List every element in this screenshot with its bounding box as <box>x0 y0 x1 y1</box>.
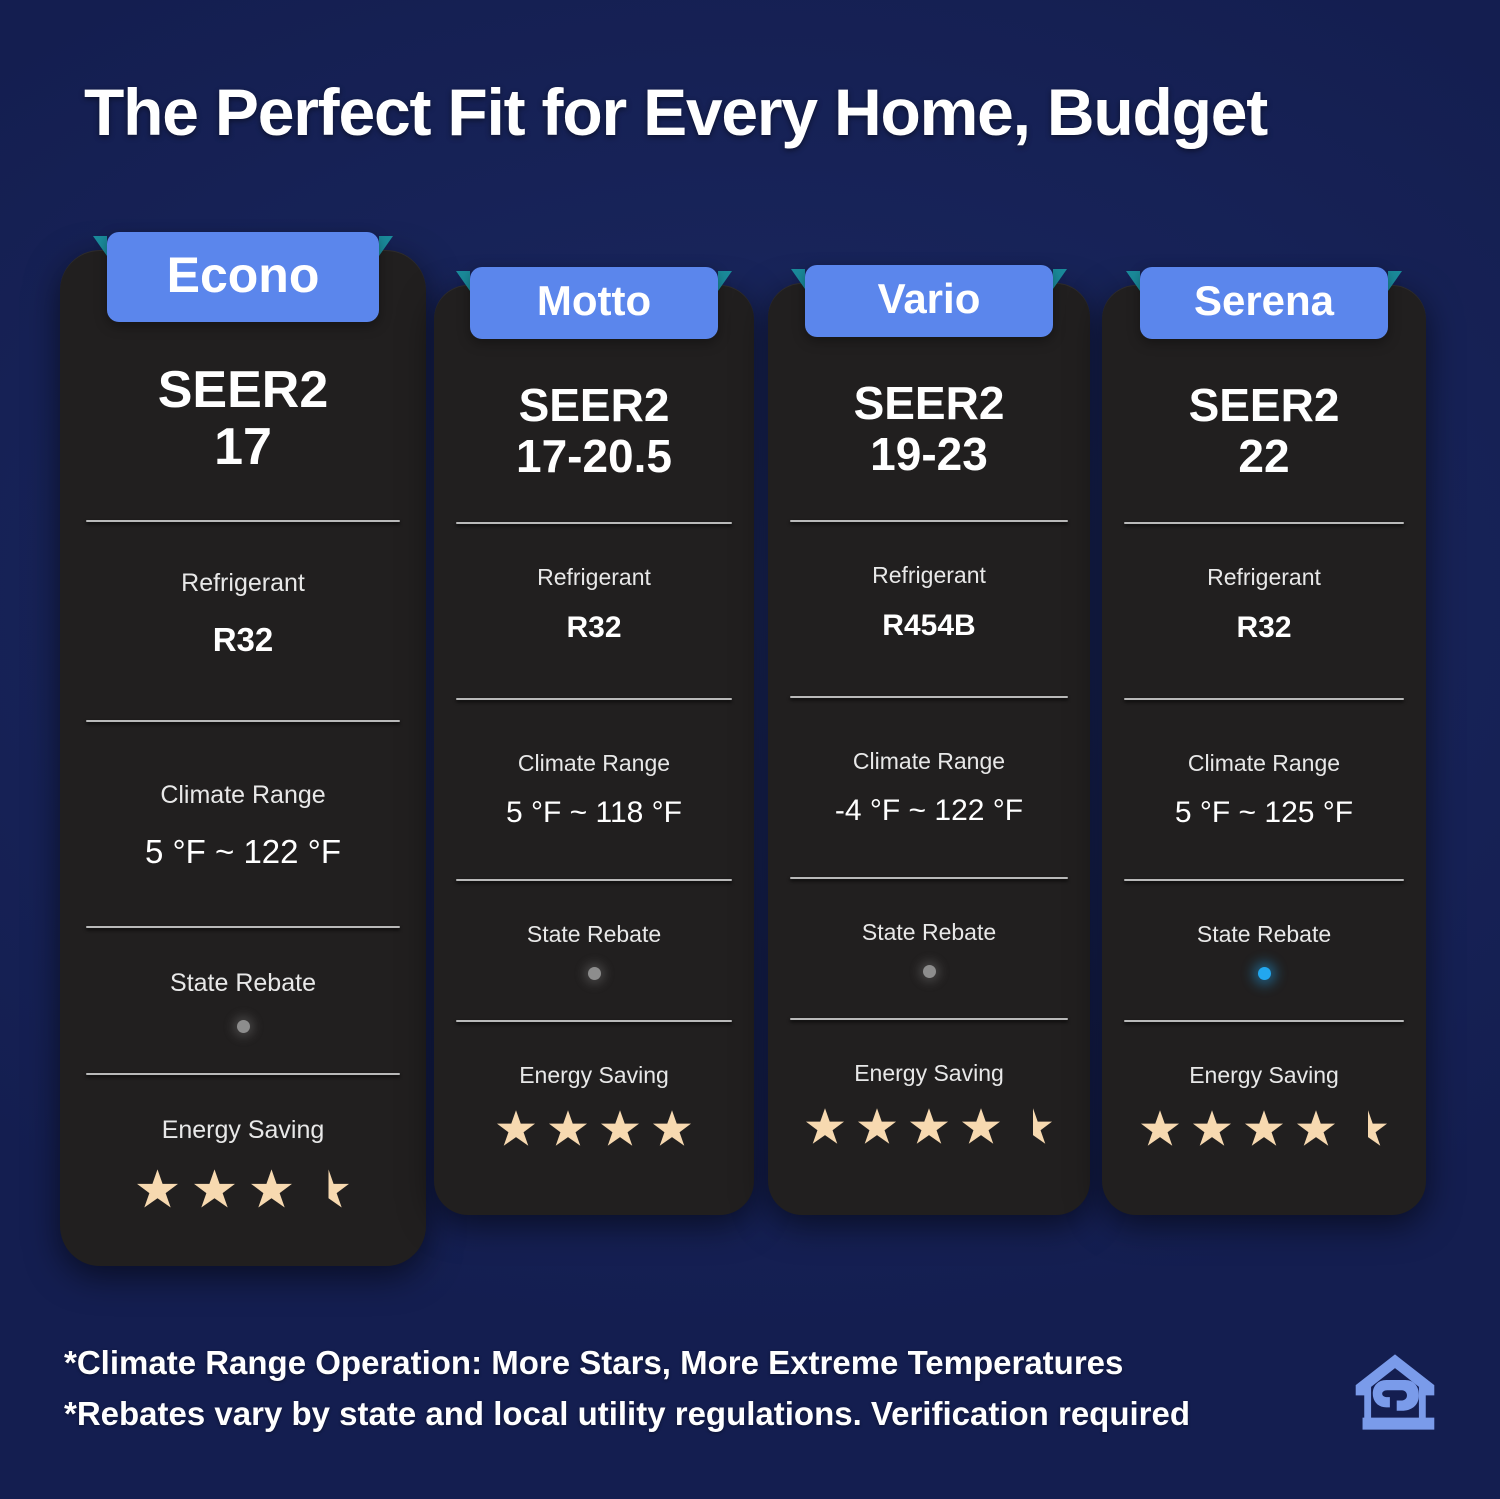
energy-saving-label: Energy Saving <box>456 1062 732 1090</box>
climate-range-value: -4 °F ~ 122 °F <box>790 793 1068 829</box>
seer-label: SEER2 <box>456 381 732 431</box>
refrigerant-row: RefrigerantR454B <box>790 562 1068 644</box>
refrigerant-label: Refrigerant <box>1124 564 1404 592</box>
divider <box>790 520 1068 522</box>
energy-saving-row: Energy Saving <box>1124 1062 1404 1148</box>
divider <box>790 696 1068 698</box>
refrigerant-row: RefrigerantR32 <box>456 564 732 646</box>
refrigerant-row: RefrigerantR32 <box>1124 564 1404 646</box>
card-body-serena: SEER222RefrigerantR32Climate Range5 °F ~… <box>1102 285 1426 1215</box>
energy-saving-row: Energy Saving <box>86 1115 400 1210</box>
seer-block: SEER222 <box>1124 381 1404 482</box>
state-rebate-row: State Rebate <box>456 921 732 980</box>
state-rebate-indicator <box>456 967 732 980</box>
star-full-icon <box>1244 1108 1284 1148</box>
product-card-serena[interactable]: SerenaSEER222RefrigerantR32Climate Range… <box>1102 285 1426 1215</box>
seer-label: SEER2 <box>86 362 400 418</box>
star-full-icon <box>1296 1108 1336 1148</box>
divider <box>456 522 732 524</box>
state-rebate-row: State Rebate <box>86 968 400 1033</box>
energy-saving-label: Energy Saving <box>86 1115 400 1145</box>
star-full-icon <box>496 1108 536 1148</box>
product-card-grid: EconoSEER217RefrigerantR32Climate Range5… <box>0 0 1500 1499</box>
refrigerant-label: Refrigerant <box>790 562 1068 590</box>
state-rebate-indicator <box>790 965 1068 978</box>
star-full-icon <box>1192 1108 1232 1148</box>
seer-label: SEER2 <box>1124 381 1404 431</box>
energy-saving-row: Energy Saving <box>456 1062 732 1148</box>
climate-range-value: 5 °F ~ 122 °F <box>86 832 400 872</box>
energy-saving-rating <box>790 1106 1068 1146</box>
refrigerant-label: Refrigerant <box>456 564 732 592</box>
seer-block: SEER217 <box>86 362 400 476</box>
seer-value: 22 <box>1124 431 1404 483</box>
state-rebate-label: State Rebate <box>1124 921 1404 949</box>
star-full-icon <box>1140 1108 1180 1148</box>
state-rebate-label: State Rebate <box>790 919 1068 947</box>
divider <box>790 877 1068 879</box>
divider <box>86 520 400 522</box>
refrigerant-value: R32 <box>456 610 732 646</box>
climate-range-label: Climate Range <box>790 748 1068 776</box>
seer-value: 17 <box>86 418 400 476</box>
refrigerant-row: RefrigerantR32 <box>86 568 400 660</box>
seer-block: SEER219-23 <box>790 379 1068 480</box>
energy-saving-rating <box>456 1108 732 1148</box>
seer-label: SEER2 <box>790 379 1068 429</box>
star-full-icon <box>250 1167 293 1210</box>
star-full-icon <box>857 1106 897 1146</box>
refrigerant-value: R454B <box>790 608 1068 644</box>
divider <box>456 1020 732 1022</box>
state-rebate-row: State Rebate <box>1124 921 1404 980</box>
divider <box>86 1073 400 1075</box>
state-rebate-row: State Rebate <box>790 919 1068 978</box>
state-rebate-indicator <box>1124 967 1404 980</box>
divider <box>1124 1020 1404 1022</box>
seer-block: SEER217-20.5 <box>456 381 732 482</box>
climate-range-row: Climate Range5 °F ~ 125 °F <box>1124 750 1404 832</box>
star-full-icon <box>961 1106 1001 1146</box>
seer-value: 19-23 <box>790 429 1068 481</box>
divider <box>1124 522 1404 524</box>
climate-range-row: Climate Range5 °F ~ 122 °F <box>86 780 400 872</box>
refrigerant-value: R32 <box>86 620 400 660</box>
climate-range-label: Climate Range <box>86 780 400 810</box>
star-half-icon <box>307 1167 350 1210</box>
house-logo-icon <box>1352 1351 1438 1433</box>
energy-saving-rating <box>86 1167 400 1210</box>
rebate-dot-active-icon <box>1258 967 1271 980</box>
divider <box>86 720 400 722</box>
climate-range-row: Climate Range-4 °F ~ 122 °F <box>790 748 1068 830</box>
divider <box>790 1018 1068 1020</box>
climate-range-value: 5 °F ~ 125 °F <box>1124 795 1404 831</box>
refrigerant-label: Refrigerant <box>86 568 400 598</box>
star-half-icon <box>1013 1106 1053 1146</box>
star-full-icon <box>652 1108 692 1148</box>
state-rebate-label: State Rebate <box>456 921 732 949</box>
rebate-dot-inactive-icon <box>923 965 936 978</box>
product-card-econo[interactable]: EconoSEER217RefrigerantR32Climate Range5… <box>60 250 426 1266</box>
card-body-econo: SEER217RefrigerantR32Climate Range5 °F ~… <box>60 250 426 1266</box>
footnote-2: *Rebates vary by state and local utility… <box>64 1388 1244 1439</box>
rebate-dot-inactive-icon <box>237 1020 250 1033</box>
divider <box>1124 879 1404 881</box>
energy-saving-rating <box>1124 1108 1404 1148</box>
star-full-icon <box>193 1167 236 1210</box>
climate-range-label: Climate Range <box>456 750 732 778</box>
star-full-icon <box>136 1167 179 1210</box>
star-full-icon <box>548 1108 588 1148</box>
state-rebate-indicator <box>86 1020 400 1033</box>
rebate-dot-inactive-icon <box>588 967 601 980</box>
product-card-motto[interactable]: MottoSEER217-20.5RefrigerantR32Climate R… <box>434 285 754 1215</box>
star-full-icon <box>805 1106 845 1146</box>
divider <box>1124 698 1404 700</box>
divider <box>456 879 732 881</box>
product-card-vario[interactable]: VarioSEER219-23RefrigerantR454BClimate R… <box>768 283 1090 1215</box>
star-full-icon <box>909 1106 949 1146</box>
footnote-1: *Climate Range Operation: More Stars, Mo… <box>64 1337 1244 1388</box>
star-half-icon <box>1348 1108 1388 1148</box>
state-rebate-label: State Rebate <box>86 968 400 998</box>
energy-saving-label: Energy Saving <box>790 1060 1068 1088</box>
star-full-icon <box>600 1108 640 1148</box>
divider <box>86 926 400 928</box>
card-body-motto: SEER217-20.5RefrigerantR32Climate Range5… <box>434 285 754 1215</box>
refrigerant-value: R32 <box>1124 610 1404 646</box>
seer-value: 17-20.5 <box>456 431 732 483</box>
energy-saving-label: Energy Saving <box>1124 1062 1404 1090</box>
climate-range-label: Climate Range <box>1124 750 1404 778</box>
climate-range-row: Climate Range5 °F ~ 118 °F <box>456 750 732 832</box>
footnotes: *Climate Range Operation: More Stars, Mo… <box>64 1337 1244 1439</box>
card-body-vario: SEER219-23RefrigerantR454BClimate Range-… <box>768 283 1090 1215</box>
divider <box>456 698 732 700</box>
energy-saving-row: Energy Saving <box>790 1060 1068 1146</box>
climate-range-value: 5 °F ~ 118 °F <box>456 795 732 831</box>
